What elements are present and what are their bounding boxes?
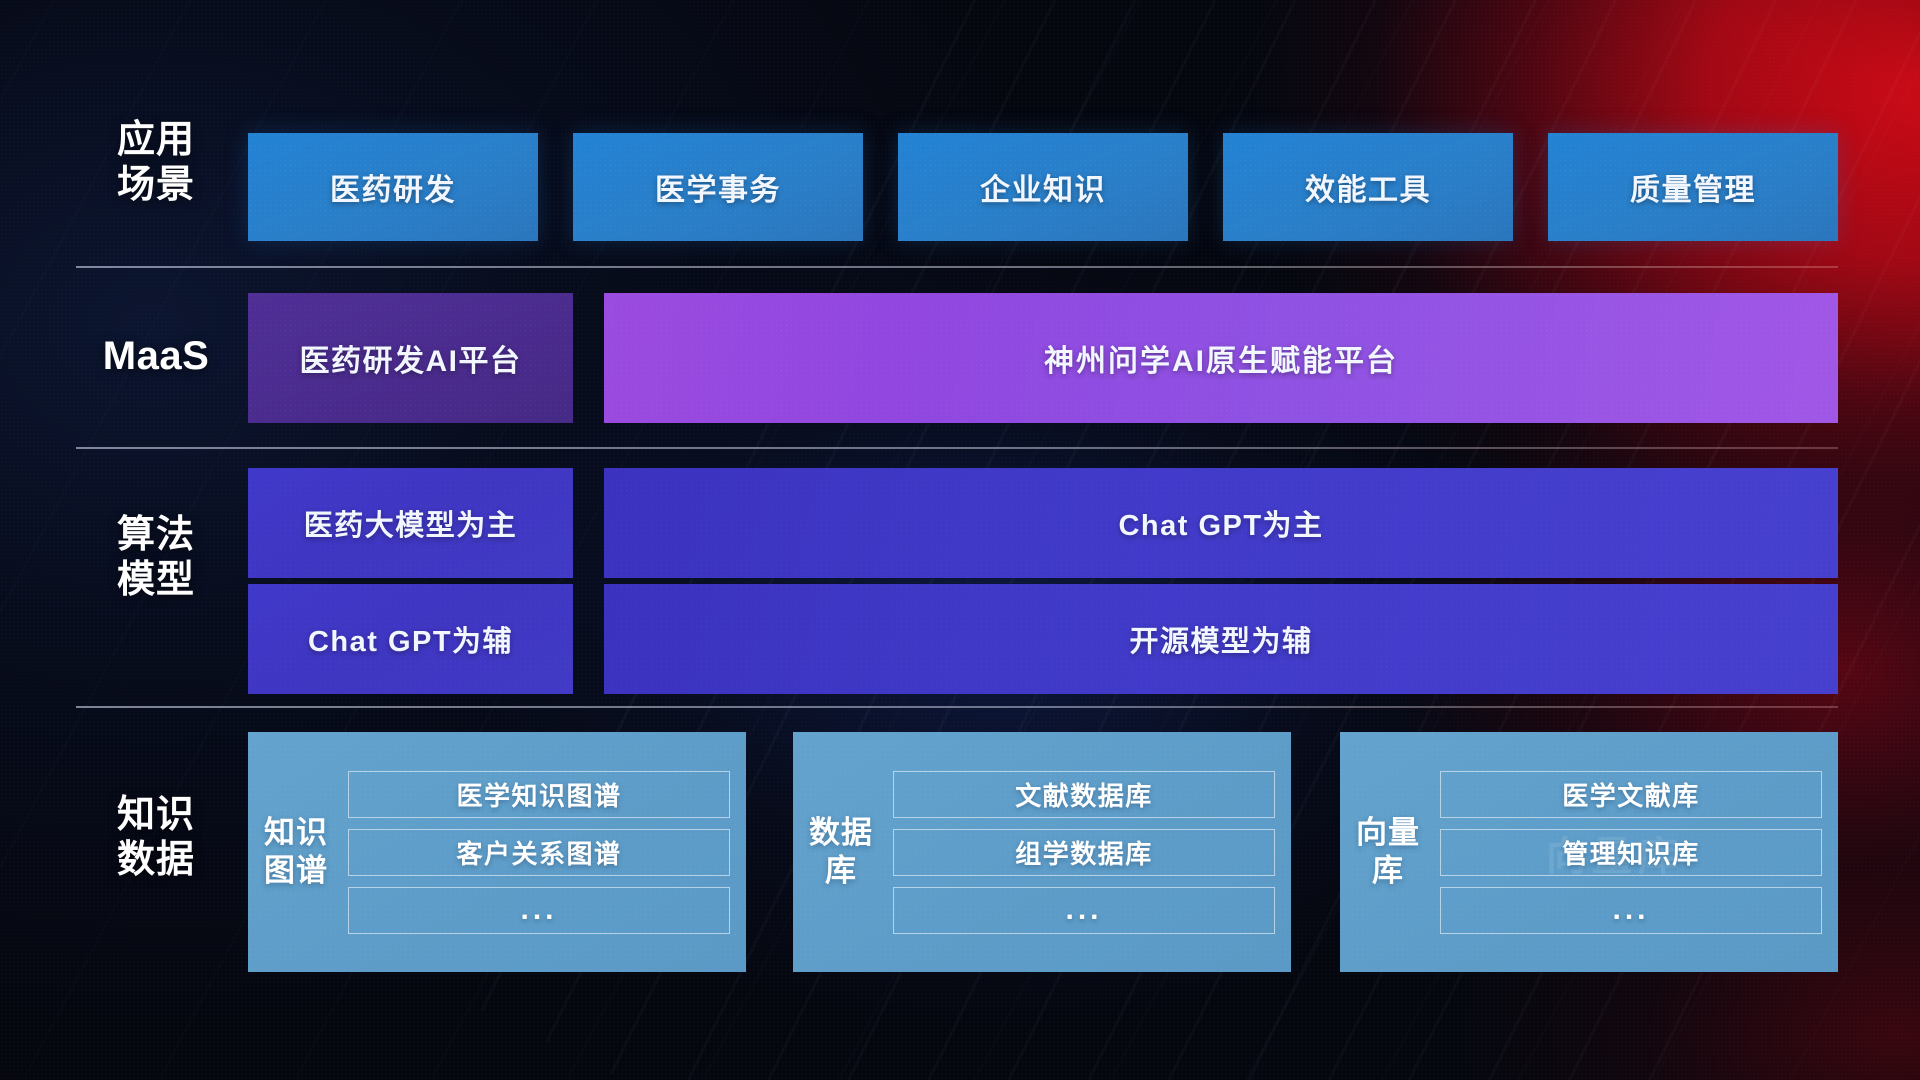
algo-box-secondary-right-label: 开源模型为辅 [1129,618,1312,660]
algo-box-primary-left-label: 医药大模型为主 [304,502,518,544]
app-box-3-label: 企业知识 [980,165,1106,209]
knowledge-item[interactable]: 医学知识图谱 [348,771,730,818]
app-box-4-label: 效能工具 [1305,165,1431,209]
app-box-4[interactable]: 效能工具 [1223,133,1513,241]
knowledge-item-more[interactable]: ... [1440,887,1822,934]
app-box-1[interactable]: 医药研发 [248,133,538,241]
architecture-diagram-slide: 应用 场景 医药研发 医学事务 企业知识 效能工具 质量管理 MaaS 医药研发… [0,0,1920,1080]
app-box-2[interactable]: 医学事务 [573,133,863,241]
knowledge-item[interactable]: 管理知识库 [1440,829,1822,876]
knowledge-group-vector-store[interactable]: 向量库 向量库 医学文献库 管理知识库 ... [1340,732,1838,972]
row-label-maas: MaaS [76,333,236,380]
app-box-1-label: 医药研发 [330,165,456,209]
algo-box-primary-right-label: Chat GPT为主 [1118,502,1323,544]
app-box-5-label: 质量管理 [1630,165,1756,209]
knowledge-group-vector-store-items: 医学文献库 管理知识库 ... [1426,771,1822,934]
app-box-5[interactable]: 质量管理 [1548,133,1838,241]
divider-application-maas [76,266,1838,268]
divider-algorithm-knowledge [76,706,1838,708]
algo-box-secondary-left-label: Chat GPT为辅 [308,618,513,660]
knowledge-group-database[interactable]: 数据库 文献数据库 组学数据库 ... [793,732,1291,972]
algo-box-primary-left[interactable]: 医药大模型为主 [248,468,573,578]
knowledge-item[interactable]: 客户关系图谱 [348,829,730,876]
knowledge-item[interactable]: 组学数据库 [893,829,1275,876]
diagram-content: 应用 场景 医药研发 医学事务 企业知识 效能工具 质量管理 MaaS 医药研发… [0,0,1920,1080]
app-box-3[interactable]: 企业知识 [898,133,1188,241]
knowledge-group-knowledge-graph-items: 医学知识图谱 客户关系图谱 ... [334,771,730,934]
maas-box-shenzhou-wenxue-platform-label: 神州问学AI原生赋能平台 [1044,336,1398,380]
algo-box-secondary-right[interactable]: 开源模型为辅 [604,584,1838,694]
knowledge-group-knowledge-graph-label: 知识图谱 [258,814,334,890]
row-label-knowledge-data: 知识 数据 [76,793,236,883]
maas-box-pharma-ai-platform-label: 医药研发AI平台 [300,336,522,380]
maas-box-pharma-ai-platform[interactable]: 医药研发AI平台 [248,293,573,423]
knowledge-group-database-label: 数据库 [803,814,879,890]
knowledge-item-more[interactable]: ... [348,887,730,934]
row-label-application-scenario: 应用 场景 [76,118,236,208]
knowledge-item[interactable]: 医学文献库 [1440,771,1822,818]
knowledge-group-database-items: 文献数据库 组学数据库 ... [879,771,1275,934]
knowledge-item-more[interactable]: ... [893,887,1275,934]
knowledge-item[interactable]: 文献数据库 [893,771,1275,818]
maas-box-shenzhou-wenxue-platform[interactable]: 神州问学AI原生赋能平台 [604,293,1838,423]
app-box-2-label: 医学事务 [655,165,781,209]
algo-box-secondary-left[interactable]: Chat GPT为辅 [248,584,573,694]
knowledge-group-vector-store-label: 向量库 [1350,814,1426,890]
row-label-algorithm-model: 算法 模型 [76,513,236,603]
algo-box-primary-right[interactable]: Chat GPT为主 [604,468,1838,578]
divider-maas-algorithm [76,447,1838,449]
knowledge-group-knowledge-graph[interactable]: 知识图谱 医学知识图谱 客户关系图谱 ... [248,732,746,972]
